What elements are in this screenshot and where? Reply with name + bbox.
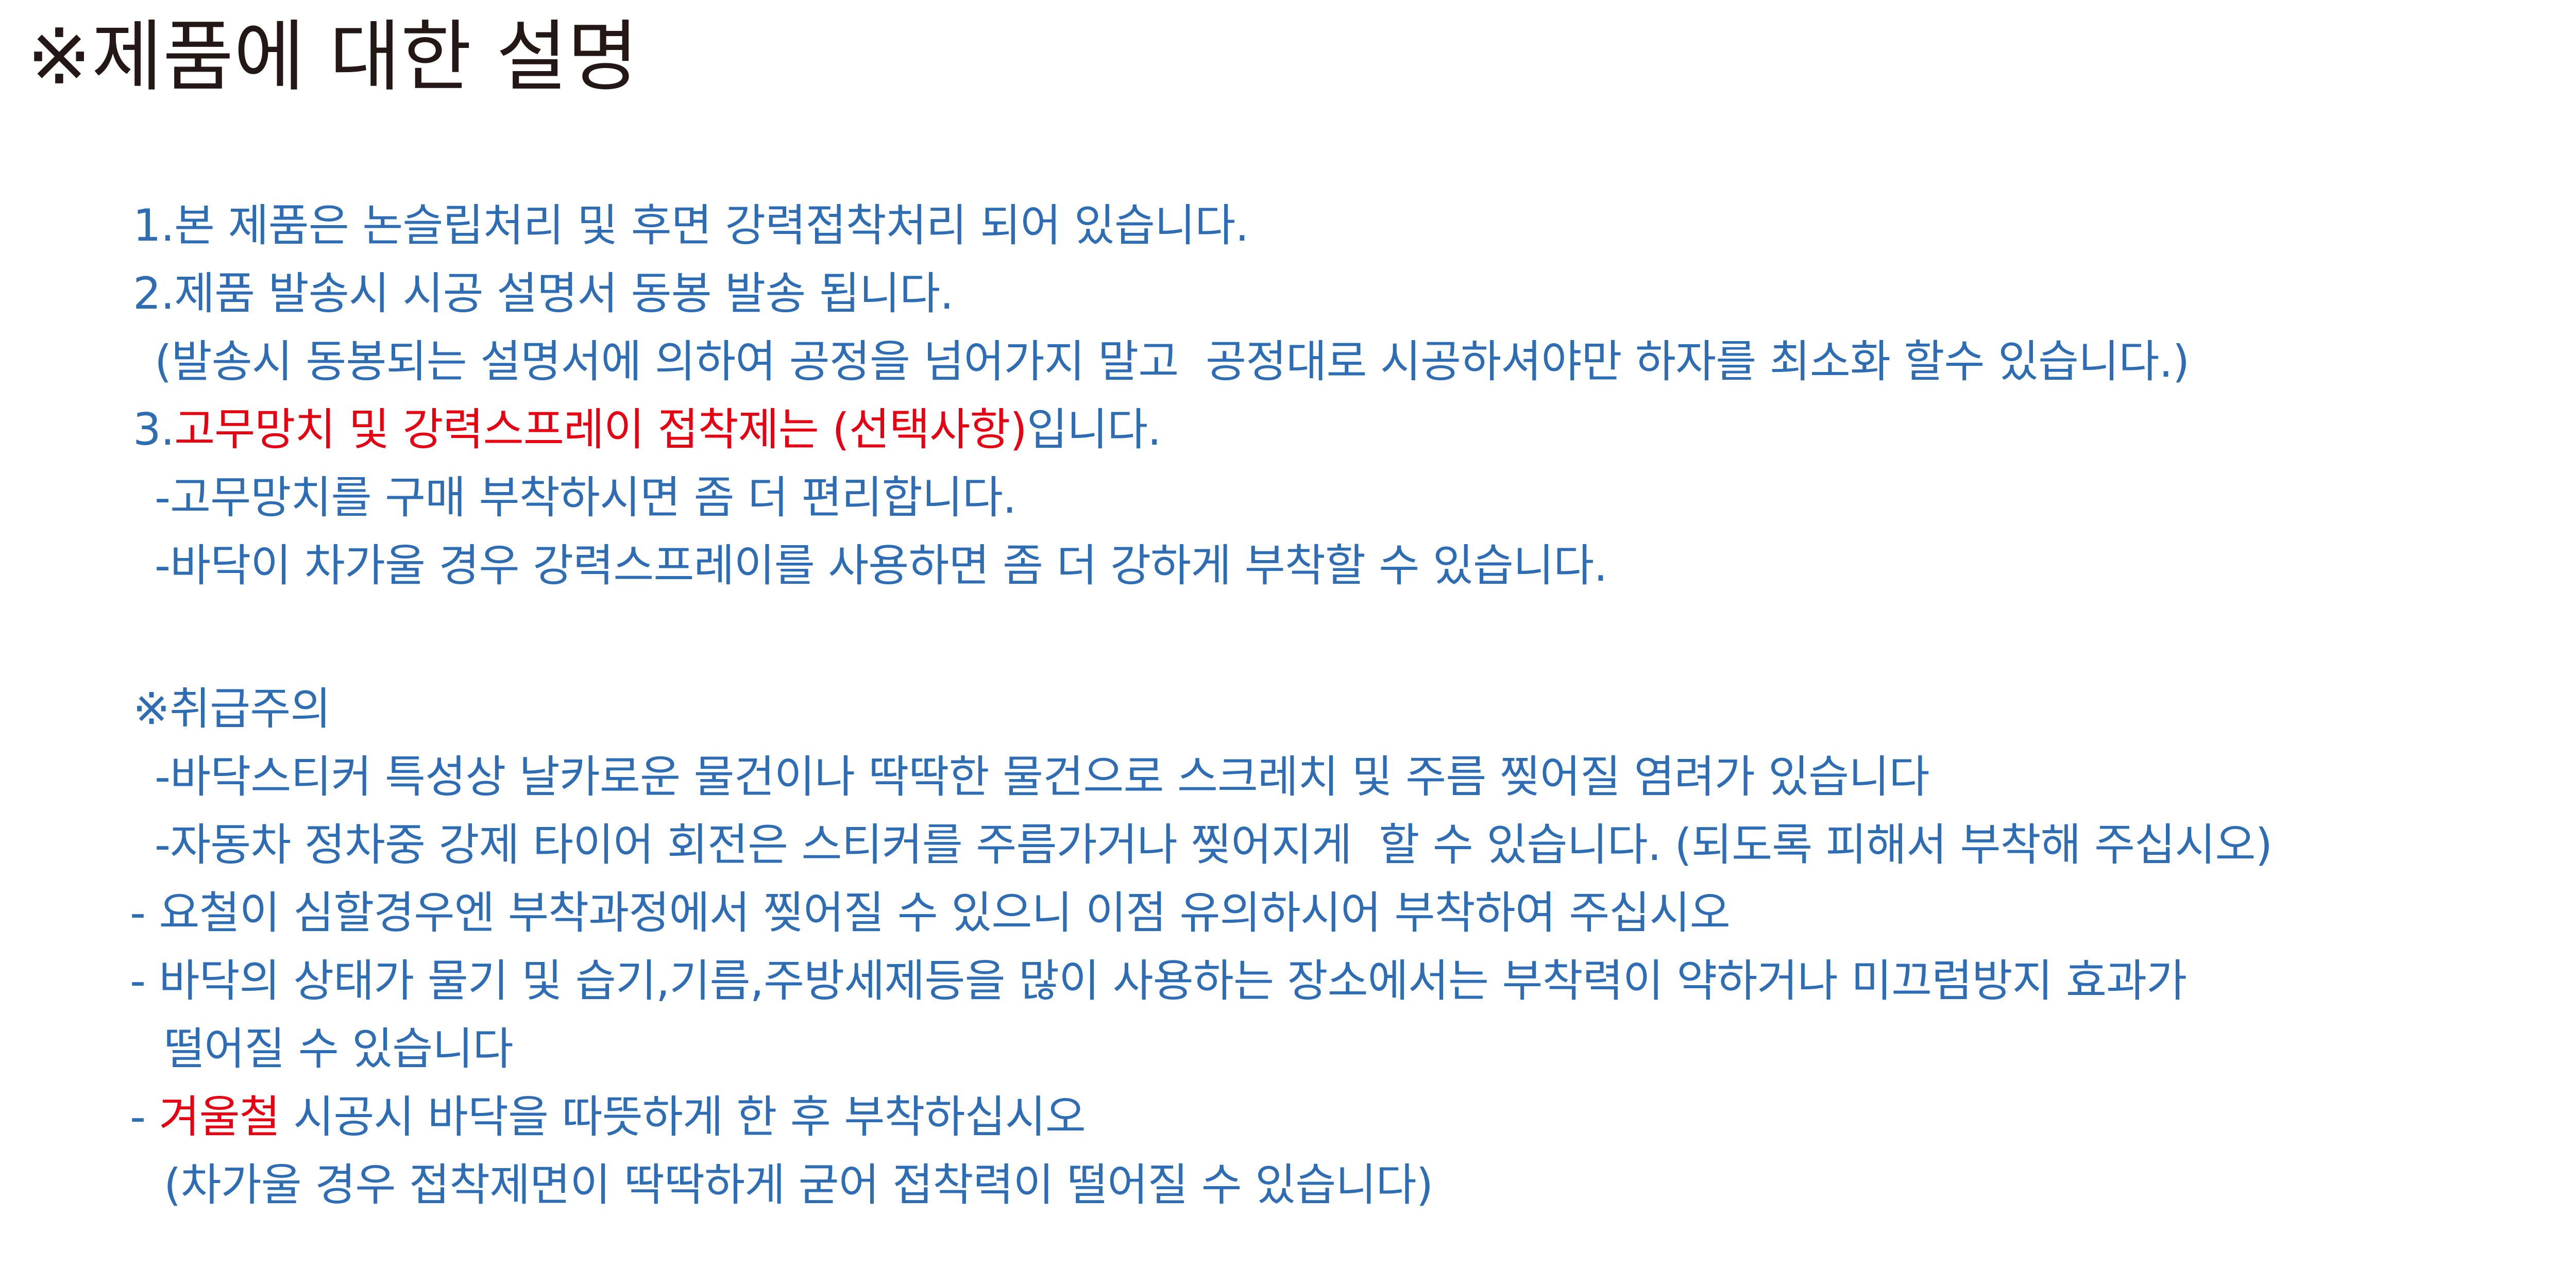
- caution-line-3: - 요철이 심할경우엔 부착과정에서 찢어질 수 있으니 이점 유의하시어 부착…: [0, 879, 2576, 947]
- caution-heading: ※취급주의: [0, 675, 2576, 743]
- caution-line-1: -바닥스티커 특성상 날카로운 물건이나 딱딱한 물건으로 스크레치 및 주름 …: [0, 743, 2576, 811]
- caution-line-5-tail: 시공시 바닥을 따뜻하게 한 후 부착하십시오: [280, 1091, 1086, 1143]
- caution-line-5-continuation: (차가울 경우 접착제면이 딱딱하게 굳어 접착력이 떨어질 수 있습니다): [0, 1151, 2576, 1219]
- document-page: ※제품에 대한 설명 1.본 제품은 논슬립처리 및 후면 강력접착처리 되어 …: [0, 0, 2576, 1283]
- caution-line-4: - 바닥의 상태가 물기 및 습기,기름,주방세제등을 많이 사용하는 장소에서…: [0, 947, 2576, 1015]
- caution-line-5-bullet: -: [130, 1091, 159, 1143]
- description-item-2-note: (발송시 동봉되는 설명서에 의하여 공정을 넘어가지 말고 공정대로 시공하셔…: [0, 328, 2576, 396]
- description-item-3-tail: 입니다.: [1027, 404, 1161, 455]
- description-body: 1.본 제품은 논슬립처리 및 후면 강력접착처리 되어 있습니다. 2.제품 …: [0, 192, 2576, 1219]
- description-item-3: 3.고무망치 및 강력스프레이 접착제는 (선택사항)입니다.: [0, 396, 2576, 464]
- page-title: ※제품에 대한 설명: [27, 19, 638, 96]
- description-item-3-sub-2: -바닥이 차가울 경우 강력스프레이를 사용하면 좀 더 강하게 부착할 수 있…: [0, 532, 2576, 600]
- caution-line-5-highlight: 겨울철: [159, 1091, 279, 1143]
- description-item-3-sub-1: -고무망치를 구매 부착하시면 좀 더 편리합니다.: [0, 464, 2576, 532]
- description-item-1: 1.본 제품은 논슬립처리 및 후면 강력접착처리 되어 있습니다.: [0, 192, 2576, 260]
- description-item-3-highlight: 고무망치 및 강력스프레이 접착제는 (선택사항): [174, 404, 1027, 455]
- description-item-3-number: 3.: [133, 404, 174, 455]
- caution-line-5: - 겨울철 시공시 바닥을 따뜻하게 한 후 부착하십시오: [0, 1083, 2576, 1151]
- caution-line-2: -자동차 정차중 강제 타이어 회전은 스티커를 주름가거나 찢어지게 할 수 …: [0, 811, 2576, 879]
- description-item-2: 2.제품 발송시 시공 설명서 동봉 발송 됩니다.: [0, 260, 2576, 328]
- section-spacer: [0, 600, 2576, 675]
- caution-line-4-continuation: 떨어질 수 있습니다: [0, 1015, 2576, 1083]
